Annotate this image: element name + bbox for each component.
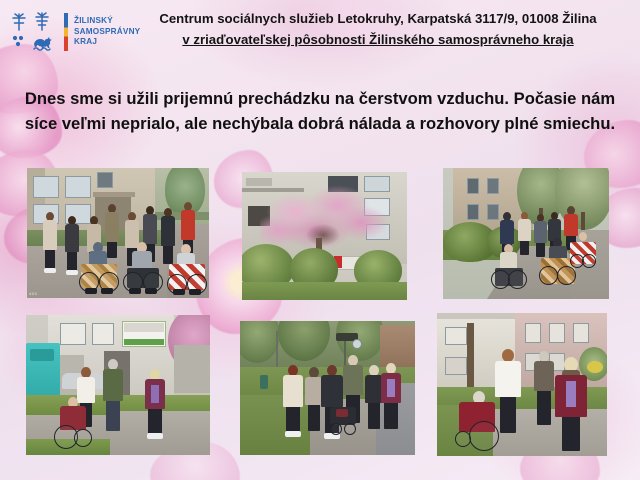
photo-walk-on-pavement[interactable] [443, 168, 609, 299]
presentation-slide: ŽILINSKÝ SAMOSPRÁVNY KRAJ Centrum sociál… [0, 0, 640, 480]
logo-pictograms-icon [10, 11, 62, 53]
header-line-organisation: Centrum sociálnych služieb Letokruhy, Ka… [124, 8, 632, 29]
photo-group-in-park[interactable] [240, 321, 415, 455]
slide-body-text: Dnes sme si užili prijemnú prechádzku na… [14, 86, 626, 136]
photo-group-outside-building[interactable]: 403 [27, 168, 209, 298]
photo-caption: 403 [29, 291, 37, 296]
photo-caregiver-with-client[interactable] [437, 313, 607, 456]
logo-color-bar [64, 13, 68, 51]
photo-gallery: 403 [0, 165, 640, 465]
header-title-block: Centrum sociálnych služieb Letokruhy, Ka… [124, 8, 632, 50]
photo-walk-near-green-sign[interactable] [26, 315, 210, 455]
photo-blossoming-cherry-tree[interactable] [242, 172, 407, 300]
header-line-founder: v zriaďovateľskej pôsobnosti Žilinského … [124, 29, 632, 50]
slide-header: ŽILINSKÝ SAMOSPRÁVNY KRAJ Centrum sociál… [0, 0, 640, 64]
zilinsky-samospravny-kraj-logo: ŽILINSKÝ SAMOSPRÁVNY KRAJ [10, 9, 118, 55]
